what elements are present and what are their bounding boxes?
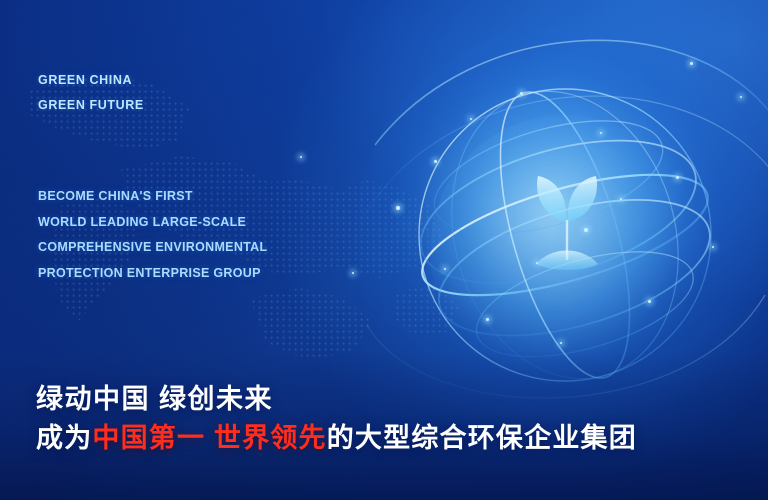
headline-en-top-line-1: GREEN CHINA [38, 68, 144, 93]
globe-core [430, 115, 700, 385]
headline-en-line-2: WORLD LEADING LARGE-SCALE [38, 210, 267, 236]
headline-english-body: BECOME CHINA'S FIRST WORLD LEADING LARGE… [38, 184, 267, 286]
headline-en-line-1: BECOME CHINA'S FIRST [38, 184, 267, 210]
headline-cn-highlight: 中国第一 世界领先 [92, 423, 326, 453]
headline-cn-line-2: 成为中国第一 世界领先的大型综合环保企业集团 [36, 418, 637, 458]
headline-cn-suffix: 的大型综合环保企业集团 [327, 423, 637, 453]
headline-en-top-line-2: GREEN FUTURE [38, 93, 144, 118]
headline-chinese: 绿动中国 绿创未来 成为中国第一 世界领先的大型综合环保企业集团 [36, 380, 637, 458]
headline-english-top: GREEN CHINA GREEN FUTURE [38, 68, 144, 118]
headline-cn-line-1: 绿动中国 绿创未来 [36, 380, 637, 418]
headline-en-line-4: PROTECTION ENTERPRISE GROUP [38, 261, 267, 287]
sprout-leaf-emblem [512, 160, 622, 275]
headline-en-line-3: COMPREHENSIVE ENVIRONMENTAL [38, 235, 267, 261]
headline-cn-prefix: 成为 [36, 423, 92, 453]
hero-banner: GREEN CHINA GREEN FUTURE BECOME CHINA'S … [0, 0, 768, 500]
